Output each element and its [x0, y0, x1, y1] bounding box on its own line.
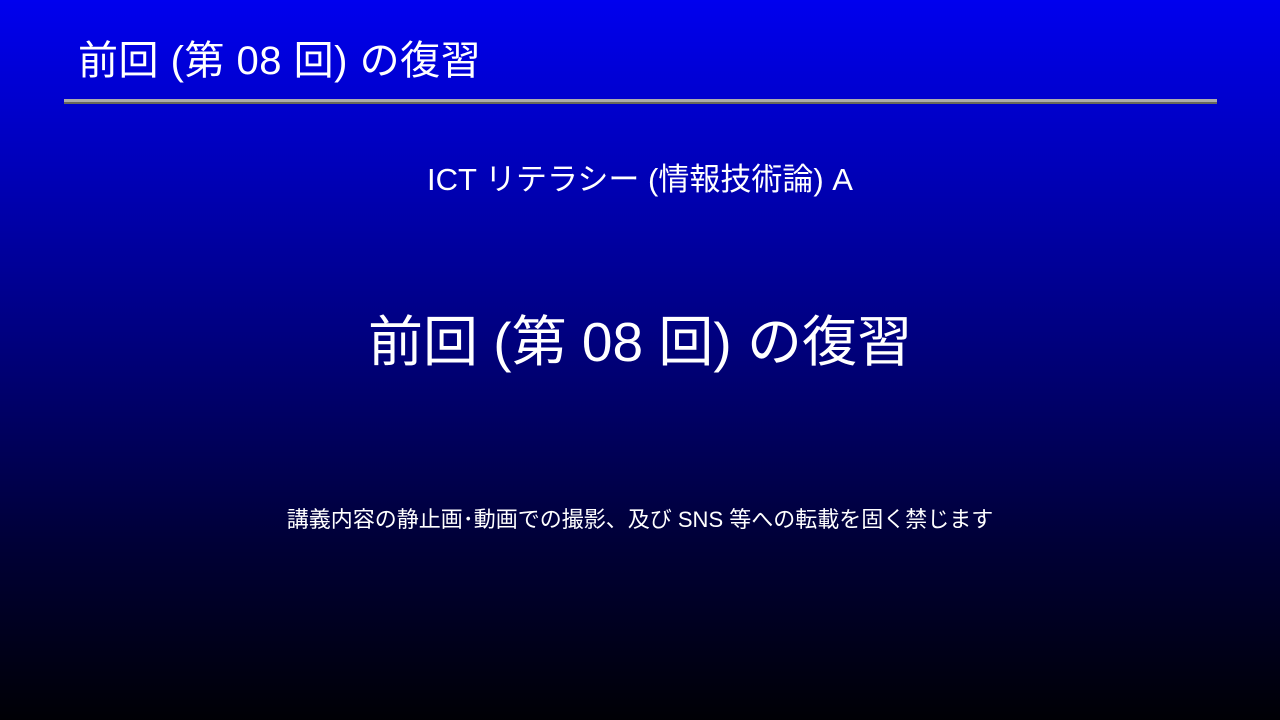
slide-header: 前回 (第 08 回) の復習	[64, 38, 1217, 104]
page-title: 前回 (第 08 回) の復習	[78, 38, 481, 84]
usage-notice: 講義内容の静止画･動画での撮影、及び SNS 等への転載を固く禁じます	[0, 505, 1280, 535]
header-divider-shadow	[64, 102, 1217, 104]
header-divider	[64, 99, 1217, 104]
lecture-title: 前回 (第 08 回) の復習	[0, 308, 1280, 377]
course-subtitle: ICT リテラシー (情報技術論) A	[0, 160, 1280, 200]
presentation-slide: 前回 (第 08 回) の復習 ICT リテラシー (情報技術論) A 前回 (…	[0, 0, 1280, 720]
slide-body: ICT リテラシー (情報技術論) A 前回 (第 08 回) の復習 講義内容…	[0, 120, 1280, 680]
